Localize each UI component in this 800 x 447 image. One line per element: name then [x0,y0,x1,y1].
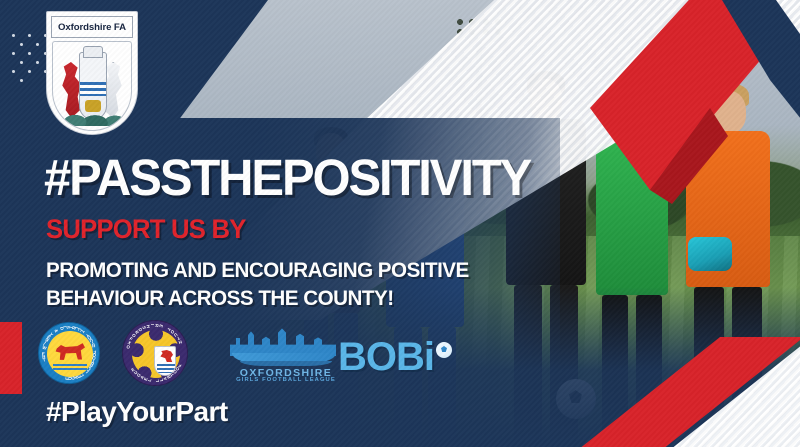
oxfordshire-youth-football-league-logo[interactable]: OXFORDSHIRE YOUTHFOOTBALL LEAGUE [122,320,188,386]
crest-shield-icon [52,41,132,131]
ogfl-line-2: GIRLS FOOTBALL LEAGUE [236,377,336,383]
red-edge-tab [0,322,22,394]
bobi-football-icon [436,342,452,358]
campaign-tagline: #PlayYourPart [46,396,228,428]
subheading-line-2: BEHAVIOUR ACROSS THE COUNTY! [46,284,469,312]
rocks-icon [61,110,125,126]
witney-district-youth-football-league-logo[interactable]: THE WITNEY & DISTRICT YOUTH FOOTBALL LEA… [38,322,100,384]
campaign-poster: Oxfordshire FA #PASSTHEPOSITIVITY SUPPOR… [0,0,800,447]
water-wave-icon [80,82,106,96]
subheading-line-1: PROMOTING AND ENCOURAGING POSITIVE [46,256,469,284]
oyfl-ring-text: FOOTBALL LEAGUE [123,321,187,385]
swoosh-shape-secondary [240,361,332,366]
oxford-skyline-icon [230,326,336,356]
bobi-wordmark: BOBi [338,335,434,380]
crest-title: Oxfordshire FA [51,16,133,38]
oxfordshire-girls-football-league-logo[interactable]: OXFORDSHIRE GIRLS FOOTBALL LEAGUE [230,326,342,384]
witney-ring-text: THE WITNEY & DISTRICT YOUTH FOOTBALL LEA… [39,323,99,383]
oxfordshire-fa-crest[interactable]: Oxfordshire FA [46,11,138,135]
crown-icon [83,46,103,58]
subheading-red: SUPPORT US BY [46,216,246,243]
bobi-logo[interactable]: BOBi [338,338,452,380]
page-title: #PASSTHEPOSITIVITY [44,152,530,203]
subheading-white: PROMOTING AND ENCOURAGING POSITIVE BEHAV… [46,256,469,313]
